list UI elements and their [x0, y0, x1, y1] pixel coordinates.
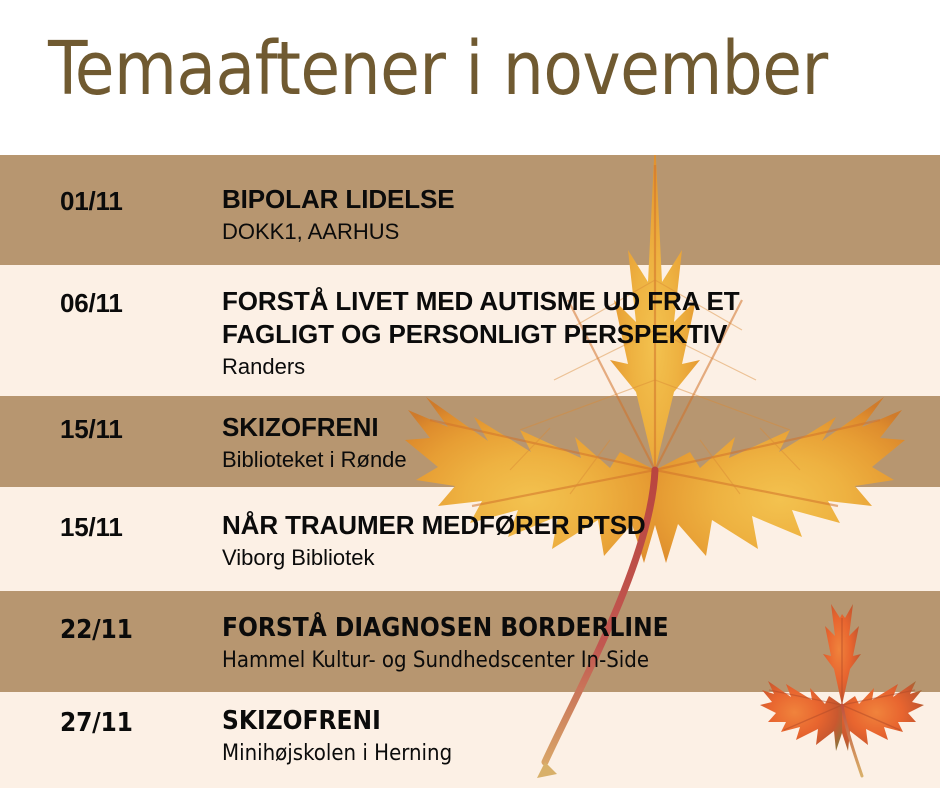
- event-venue: Hammel Kultur- og Sundhedscenter In-Side: [222, 647, 922, 675]
- event-row-4: 15/11 NÅR TRAUMER MEDFØRER PTSD Viborg B…: [0, 487, 940, 591]
- event-info: FORSTÅ LIVET MED AUTISME UD FRA ET FAGLI…: [222, 285, 922, 381]
- event-venue: Biblioteket i Rønde: [222, 446, 922, 474]
- event-row-1: 01/11 BIPOLAR LIDELSE DOKK1, AARHUS: [0, 155, 940, 265]
- title-bar: Temaaftener i november: [0, 0, 940, 155]
- event-row-6: 27/11 SKIZOFRENI Minihøjskolen i Herning: [0, 692, 940, 788]
- event-date: 06/11: [60, 288, 123, 319]
- event-date: 27/11: [60, 708, 133, 738]
- event-info: FORSTÅ DIAGNOSEN BORDERLINE Hammel Kultu…: [222, 612, 922, 675]
- event-date: 22/11: [60, 615, 133, 645]
- event-date: 15/11: [60, 414, 123, 445]
- poster-canvas: Temaaftener i november 01/11 BIPOLAR LID…: [0, 0, 940, 788]
- event-venue: Randers: [222, 353, 922, 381]
- event-venue: DOKK1, AARHUS: [222, 218, 922, 246]
- event-info: SKIZOFRENI Minihøjskolen i Herning: [222, 705, 922, 768]
- event-title: FORSTÅ DIAGNOSEN BORDERLINE: [222, 612, 922, 645]
- event-title: BIPOLAR LIDELSE: [222, 183, 922, 216]
- event-title: SKIZOFRENI: [222, 411, 922, 444]
- page-title: Temaaftener i november: [48, 27, 828, 111]
- event-date: 01/11: [60, 186, 123, 217]
- event-title: SKIZOFRENI: [222, 705, 922, 738]
- event-title: NÅR TRAUMER MEDFØRER PTSD: [222, 509, 922, 542]
- event-info: NÅR TRAUMER MEDFØRER PTSD Viborg Bibliot…: [222, 509, 922, 572]
- event-info: SKIZOFRENI Biblioteket i Rønde: [222, 411, 922, 474]
- event-title: FORSTÅ LIVET MED AUTISME UD FRA ET FAGLI…: [222, 285, 922, 351]
- event-row-5: 22/11 FORSTÅ DIAGNOSEN BORDERLINE Hammel…: [0, 591, 940, 692]
- event-row-3: 15/11 SKIZOFRENI Biblioteket i Rønde: [0, 396, 940, 487]
- event-venue: Minihøjskolen i Herning: [222, 740, 922, 768]
- event-venue: Viborg Bibliotek: [222, 544, 922, 572]
- event-row-2: 06/11 FORSTÅ LIVET MED AUTISME UD FRA ET…: [0, 265, 940, 396]
- event-date: 15/11: [60, 512, 123, 543]
- event-info: BIPOLAR LIDELSE DOKK1, AARHUS: [222, 183, 922, 246]
